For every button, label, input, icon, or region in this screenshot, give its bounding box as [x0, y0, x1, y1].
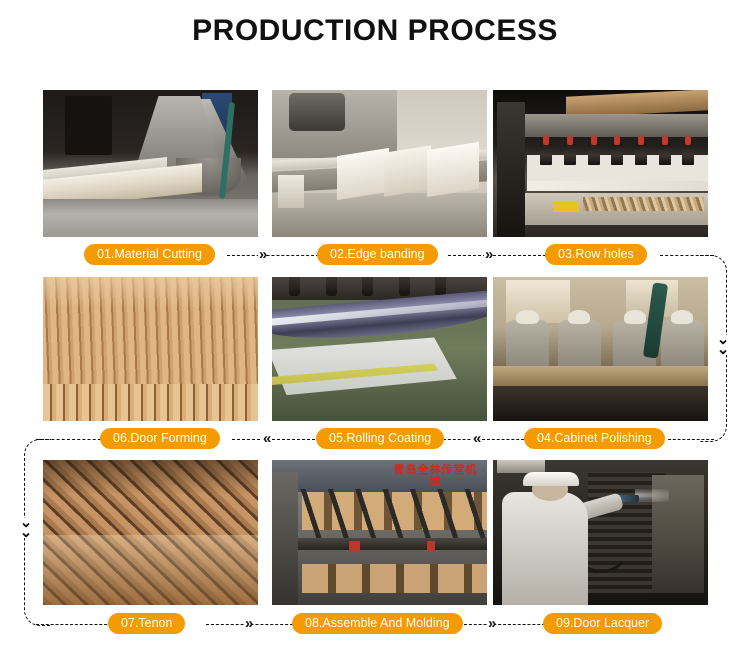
step-badge-07[interactable]: 07.Tenon	[108, 613, 185, 634]
step-badge-01[interactable]: 01.Material Cutting	[84, 244, 215, 265]
step-photo-04	[493, 277, 708, 421]
step-badge-02[interactable]: 02.Edge banding	[317, 244, 438, 265]
step-photo-01	[43, 90, 258, 237]
step-badge-03[interactable]: 03.Row holes	[545, 244, 647, 265]
chevron-left-icon-1: «	[262, 431, 270, 446]
chevron-down-icon-left: ⌄⌄	[17, 518, 35, 538]
step-badge-09[interactable]: 09.Door Lacquer	[543, 613, 662, 634]
chevron-right-icon-2: »	[484, 247, 492, 262]
chevron-down-icon-right: ⌄⌄	[714, 335, 732, 355]
connector-05-to-06	[232, 439, 320, 440]
connector-02-to-03	[448, 255, 546, 256]
chevron-right-icon-1: »	[258, 247, 266, 262]
step-photo-05	[272, 277, 487, 421]
step-badge-06[interactable]: 06.Door Forming	[100, 428, 220, 449]
step-badge-05[interactable]: 05.Rolling Coating	[316, 428, 444, 449]
connector-loop-to-04	[668, 439, 714, 440]
step-photo-02	[272, 90, 487, 237]
step-badge-08[interactable]: 08.Assemble And Molding	[292, 613, 463, 634]
production-process-diagram: 01.Material Cutting 02.Edge banding 03.R…	[0, 0, 750, 651]
chevron-right-icon-4: »	[487, 616, 495, 631]
connector-04-to-05	[443, 439, 529, 440]
chevron-left-icon-2: «	[472, 431, 480, 446]
connector-01-to-02	[227, 255, 319, 256]
connector-08-to-09	[464, 624, 550, 625]
machine-sign-text: 青岛全林传堂机械	[392, 464, 478, 481]
step-photo-06	[43, 277, 258, 421]
step-photo-08: 青岛全林传堂机械	[272, 460, 487, 605]
connector-loop-to-07	[36, 624, 112, 625]
chevron-right-icon-3: »	[244, 616, 252, 631]
step-photo-07	[43, 460, 258, 605]
step-photo-03	[493, 90, 708, 237]
step-badge-04[interactable]: 04.Cabinet Polishing	[524, 428, 665, 449]
step-photo-09	[493, 460, 708, 605]
